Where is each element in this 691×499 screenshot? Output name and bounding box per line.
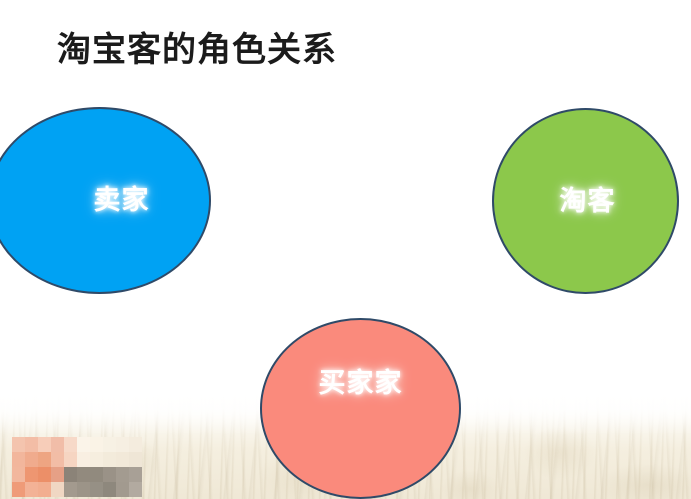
watermark-tile [90,437,103,452]
watermark-tile [90,467,103,482]
watermark-tile [12,482,25,497]
watermark-tile [12,452,25,467]
watermark-tile [129,482,142,497]
pixelated-watermark [12,437,142,497]
diagram-node-buyer-label: 买家家 [319,370,403,397]
diagram-node-taoke[interactable]: 淘客 [492,108,679,294]
watermark-tile [64,467,77,482]
diagram-node-buyer[interactable]: 买家家 [260,318,461,499]
watermark-tile [51,452,64,467]
watermark-tile [116,482,129,497]
watermark-tile [103,482,116,497]
watermark-tile [129,437,142,452]
diagram-node-seller[interactable]: 卖家 [0,107,211,294]
page-title: 淘宝客的角色关系 [57,31,337,70]
watermark-tile [25,452,38,467]
watermark-tile [38,482,51,497]
diagram-node-seller-label: 卖家 [94,187,150,214]
watermark-tile [129,452,142,467]
watermark-tile [38,437,51,452]
watermark-tile [129,467,142,482]
watermark-tile [116,452,129,467]
watermark-tile [25,437,38,452]
watermark-tile [77,452,90,467]
watermark-tile [51,437,64,452]
watermark-tile [77,467,90,482]
watermark-tile [77,437,90,452]
watermark-tile [38,467,51,482]
watermark-tile [51,467,64,482]
watermark-tile [12,437,25,452]
watermark-tile [51,482,64,497]
watermark-tile [116,467,129,482]
watermark-tile [103,452,116,467]
watermark-tile [38,452,51,467]
watermark-tile [90,452,103,467]
watermark-tile [90,482,103,497]
watermark-tile [64,437,77,452]
watermark-tile [64,482,77,497]
watermark-tile [103,437,116,452]
slide-canvas: 淘宝客的角色关系 卖家 淘客 买家家 [0,0,691,499]
watermark-tile [77,482,90,497]
watermark-tile [25,482,38,497]
diagram-node-taoke-label: 淘客 [560,188,616,215]
watermark-tile [25,467,38,482]
watermark-tile [116,437,129,452]
watermark-tile [103,467,116,482]
watermark-tile [12,467,25,482]
watermark-tile [64,452,77,467]
